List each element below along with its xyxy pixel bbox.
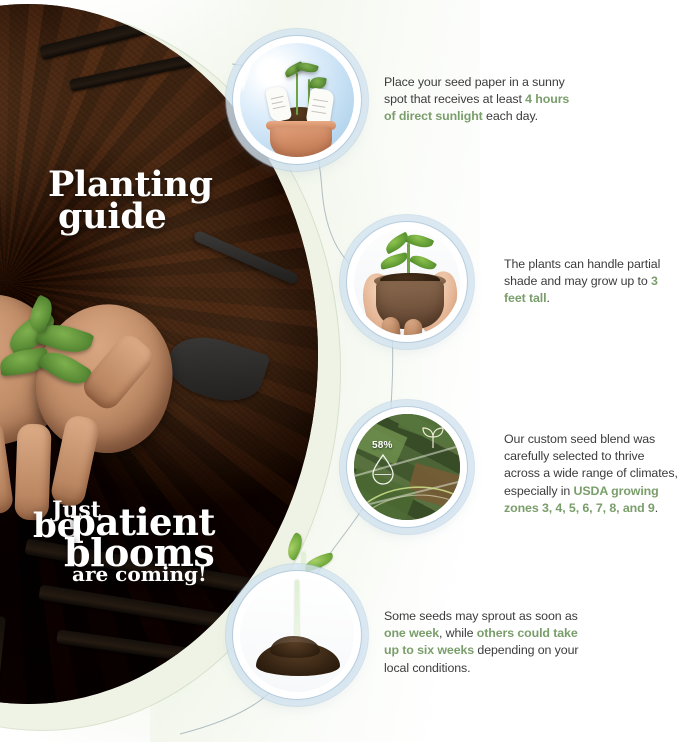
step-image-germination — [233, 571, 361, 699]
step-image-climate: 58% — [347, 407, 467, 527]
body-text: The plants can handle partial shade and … — [504, 257, 660, 288]
sprout-stem — [296, 73, 298, 115]
step-text-germination: Some seeds may sprout as soon as one wee… — [384, 608, 590, 677]
curve-accent — [358, 478, 460, 518]
step-text-sunlight: Place your seed paper in a sunny spot th… — [384, 74, 584, 126]
sprout-icon — [420, 424, 446, 450]
body-text: each day. — [483, 109, 538, 123]
step-image-sunlight — [233, 36, 361, 164]
emphasized-text: one week — [384, 626, 439, 640]
page-title-line-2: guide — [58, 200, 166, 233]
terracotta-pot — [270, 127, 332, 157]
step-text-climate: Our custom seed blend was carefully sele… — [504, 431, 679, 517]
tagline-are-coming: are coming! — [72, 565, 207, 584]
body-text: , while — [439, 626, 477, 640]
finger — [403, 318, 423, 335]
moisture-percent-label: 58% — [372, 440, 393, 451]
planting-guide-infographic: Planting guide Just be patient blooms ar… — [0, 0, 679, 742]
step-text-shade: The plants can handle partial shade and … — [504, 256, 669, 308]
body-text: . — [655, 501, 658, 515]
body-text: . — [546, 291, 549, 305]
step-image-shade — [347, 222, 467, 342]
body-text: Some seeds may sprout as soon as — [384, 609, 578, 623]
